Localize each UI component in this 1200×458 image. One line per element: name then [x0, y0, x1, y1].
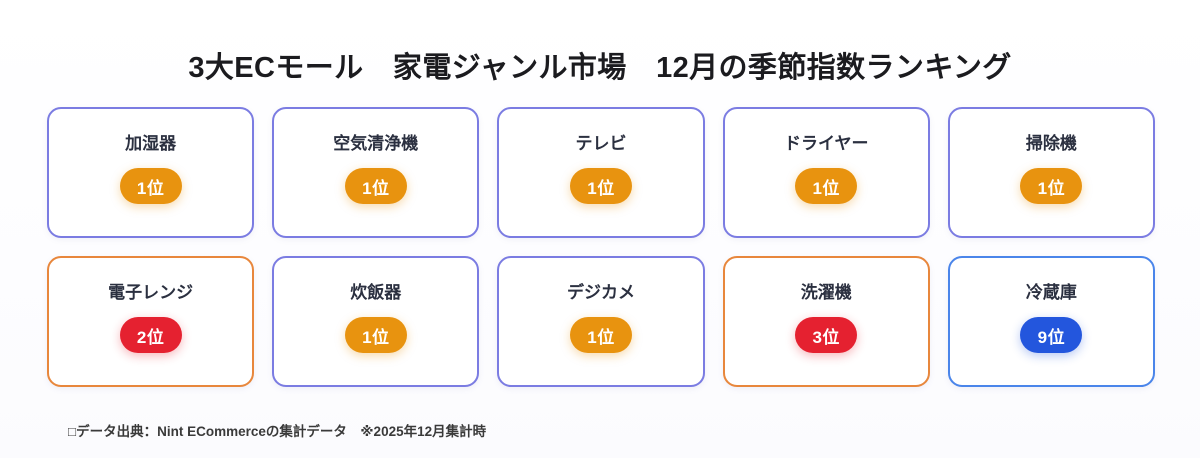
rank-badge: 3位 — [795, 317, 857, 353]
rank-badge: 1位 — [1020, 168, 1082, 204]
ranking-card-reizoko[interactable]: 冷蔵庫 9位 — [948, 256, 1155, 387]
card-title: 冷蔵庫 — [1026, 284, 1077, 301]
card-title: ドライヤー — [784, 135, 869, 152]
card-title: 空気清浄機 — [333, 135, 418, 152]
ranking-card-terebi[interactable]: テレビ 1位 — [497, 107, 704, 238]
rank-badge: 1位 — [570, 168, 632, 204]
ranking-card-sojiki[interactable]: 掃除機 1位 — [948, 107, 1155, 238]
data-source-footnote: □データ出典：Nint ECommerceの集計データ ※2025年12月集計時 — [68, 420, 486, 440]
ranking-card-grid: 加湿器 1位 空気清浄機 1位 テレビ 1位 ドライヤー 1位 掃除機 1位 — [47, 107, 1155, 387]
card-title: テレビ — [576, 135, 627, 152]
card-title: 電子レンジ — [108, 284, 193, 301]
card-title: 加湿器 — [125, 135, 176, 152]
card-title: 掃除機 — [1026, 135, 1077, 152]
rank-badge: 1位 — [570, 317, 632, 353]
card-title: デジカメ — [567, 284, 635, 301]
ranking-card-kashitsuki[interactable]: 加湿器 1位 — [47, 107, 254, 238]
rank-badge: 1位 — [795, 168, 857, 204]
rank-badge: 1位 — [120, 168, 182, 204]
card-row-2: 電子レンジ 2位 炊飯器 1位 デジカメ 1位 洗濯機 3位 冷蔵庫 9位 — [47, 256, 1155, 387]
rank-badge: 1位 — [345, 317, 407, 353]
rank-badge: 1位 — [345, 168, 407, 204]
card-title: 洗濯機 — [801, 284, 852, 301]
ranking-card-denshi-renji[interactable]: 電子レンジ 2位 — [47, 256, 254, 387]
ranking-card-dejikame[interactable]: デジカメ 1位 — [497, 256, 704, 387]
page-title: 3大ECモール 家電ジャンル市場 12月の季節指数ランキング — [0, 44, 1200, 86]
card-row-1: 加湿器 1位 空気清浄機 1位 テレビ 1位 ドライヤー 1位 掃除機 1位 — [47, 107, 1155, 238]
rank-badge: 2位 — [120, 317, 182, 353]
ranking-card-sentakuki[interactable]: 洗濯機 3位 — [723, 256, 930, 387]
card-title: 炊飯器 — [350, 284, 401, 301]
ranking-card-doraiya[interactable]: ドライヤー 1位 — [723, 107, 930, 238]
infographic-page: 3大ECモール 家電ジャンル市場 12月の季節指数ランキング 加湿器 1位 空気… — [0, 0, 1200, 458]
ranking-card-kuki-seijoki[interactable]: 空気清浄機 1位 — [272, 107, 479, 238]
rank-badge: 9位 — [1020, 317, 1082, 353]
ranking-card-suihanki[interactable]: 炊飯器 1位 — [272, 256, 479, 387]
